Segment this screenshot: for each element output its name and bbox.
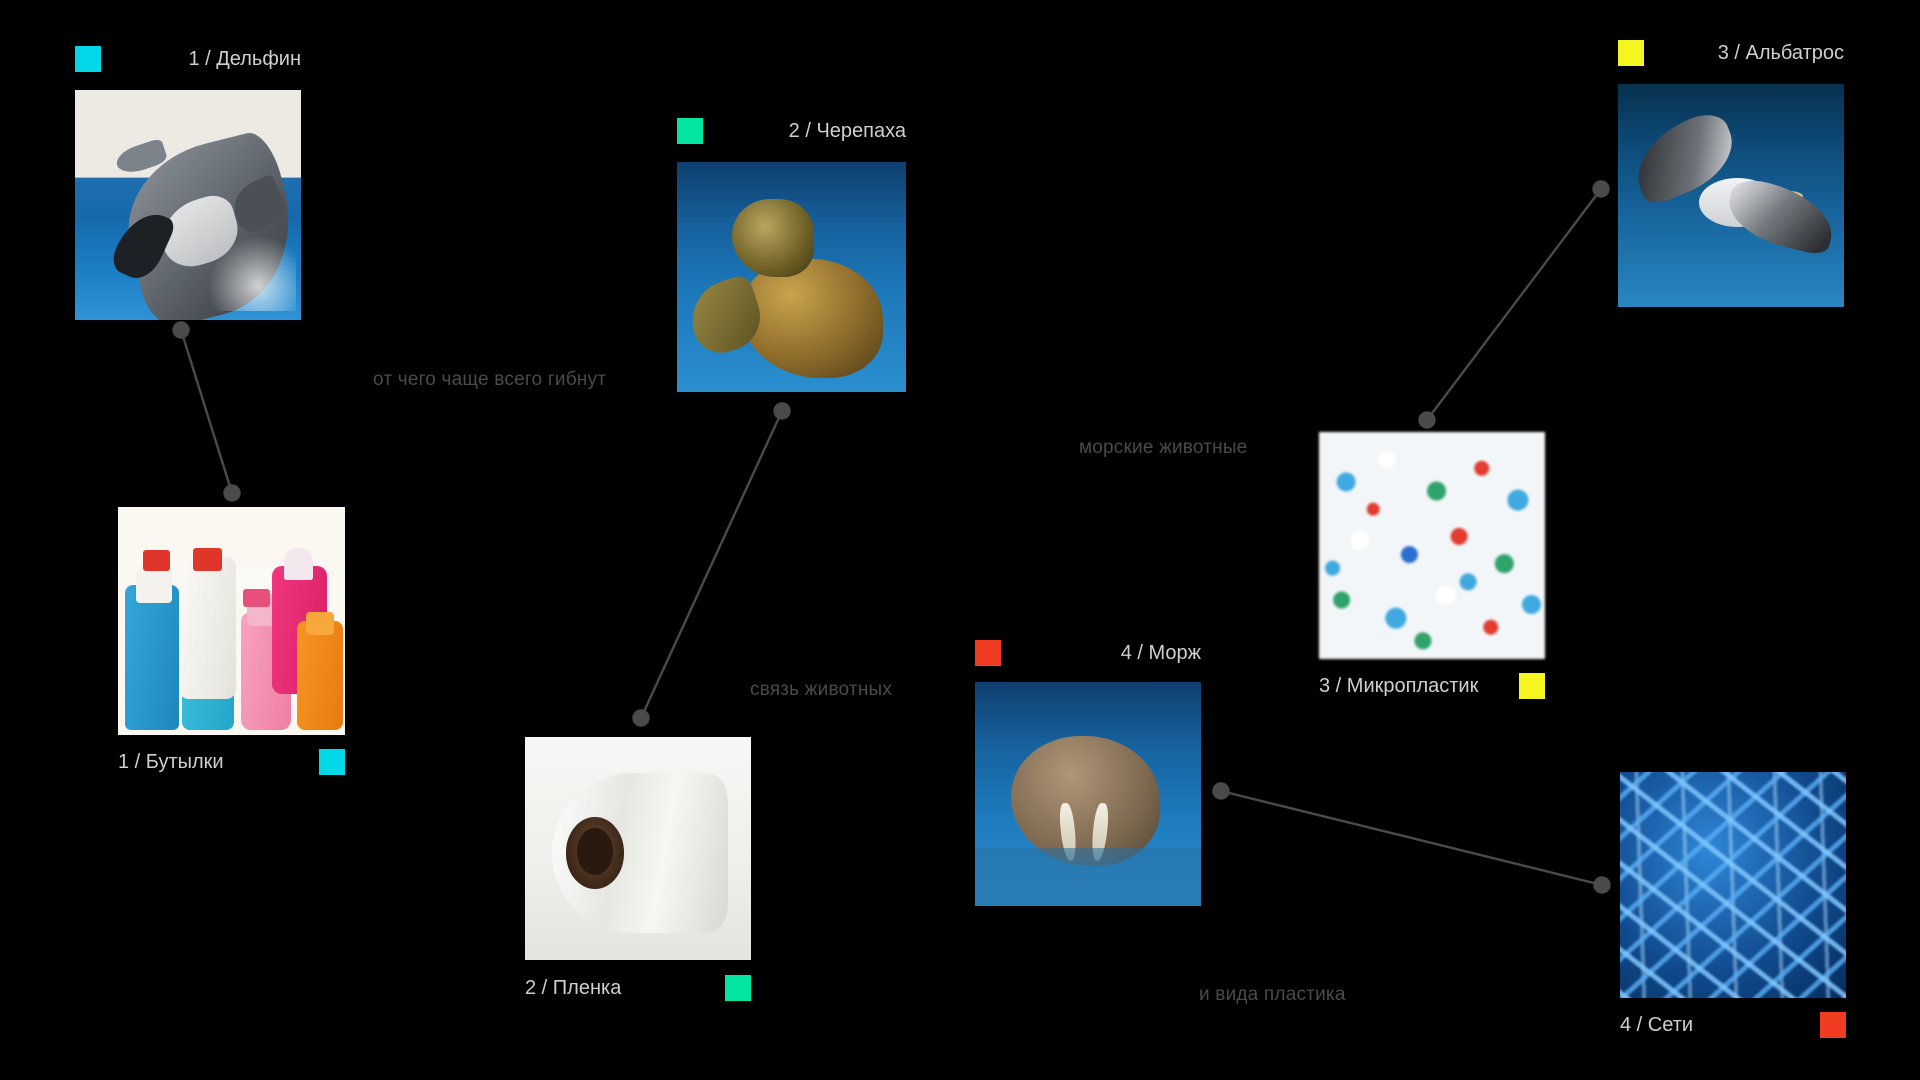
note-from-what-they-die: от чего чаще всего гибнут (373, 369, 606, 391)
caption-walrus: 4 / Морж (975, 640, 1201, 666)
caption-dolphin: 1 / Дельфин (75, 46, 301, 72)
card-label-albatross: 3 / Альбатрос (1718, 40, 1844, 66)
thumbnail-bottles[interactable] (118, 507, 345, 735)
card-label-film: 2 / Пленка (525, 975, 621, 1001)
card-label-walrus: 4 / Морж (1121, 640, 1201, 666)
caption-turtle: 2 / Черепаха (677, 118, 906, 144)
card-label-microplastic: 3 / Микропластик (1319, 673, 1478, 699)
thumbnail-turtle[interactable] (677, 162, 906, 392)
connector-albatross-to-microplastic (1420, 182, 1609, 428)
thumbnail-film[interactable] (525, 737, 751, 960)
thumbnail-albatross[interactable] (1618, 84, 1844, 307)
card-label-dolphin: 1 / Дельфин (188, 46, 301, 72)
caption-albatross: 3 / Альбатрос (1618, 40, 1844, 66)
caption-bottles: 1 / Бутылки (118, 749, 345, 775)
thumbnail-dolphin[interactable] (75, 90, 301, 320)
swatch-bottles (319, 749, 345, 775)
caption-microplastic: 3 / Микропластик (1319, 673, 1545, 699)
connector-dolphin-to-bottles (174, 323, 240, 501)
card-label-bottles: 1 / Бутылки (118, 749, 224, 775)
art-film (525, 737, 751, 960)
thumbnail-microplastic[interactable] (1319, 432, 1545, 659)
caption-film: 2 / Пленка (525, 975, 751, 1001)
art-turtle (677, 162, 906, 392)
note-marine-animals: морские животные (1079, 437, 1247, 459)
art-dolphin (75, 90, 301, 320)
swatch-film (725, 975, 751, 1001)
swatch-dolphin (75, 46, 101, 72)
connector-walrus-to-nets (1214, 784, 1610, 893)
card-label-nets: 4 / Сети (1620, 1012, 1693, 1038)
art-walrus (975, 682, 1201, 906)
swatch-albatross (1618, 40, 1644, 66)
card-label-turtle: 2 / Черепаха (789, 118, 906, 144)
canvas: 1 / Дельфин 2 / Черепаха (0, 0, 1920, 1080)
swatch-microplastic (1519, 673, 1545, 699)
swatch-turtle (677, 118, 703, 144)
thumbnail-walrus[interactable] (975, 682, 1201, 906)
art-bottles (118, 507, 345, 735)
art-albatross (1618, 84, 1844, 307)
caption-nets: 4 / Сети (1620, 1012, 1846, 1038)
swatch-walrus (975, 640, 1001, 666)
note-animal-link: связь животных (750, 679, 892, 701)
connector-turtle-to-film (634, 404, 790, 726)
thumbnail-nets[interactable] (1620, 772, 1846, 998)
note-plastic-type: и вида пластика (1199, 984, 1346, 1006)
swatch-nets (1820, 1012, 1846, 1038)
